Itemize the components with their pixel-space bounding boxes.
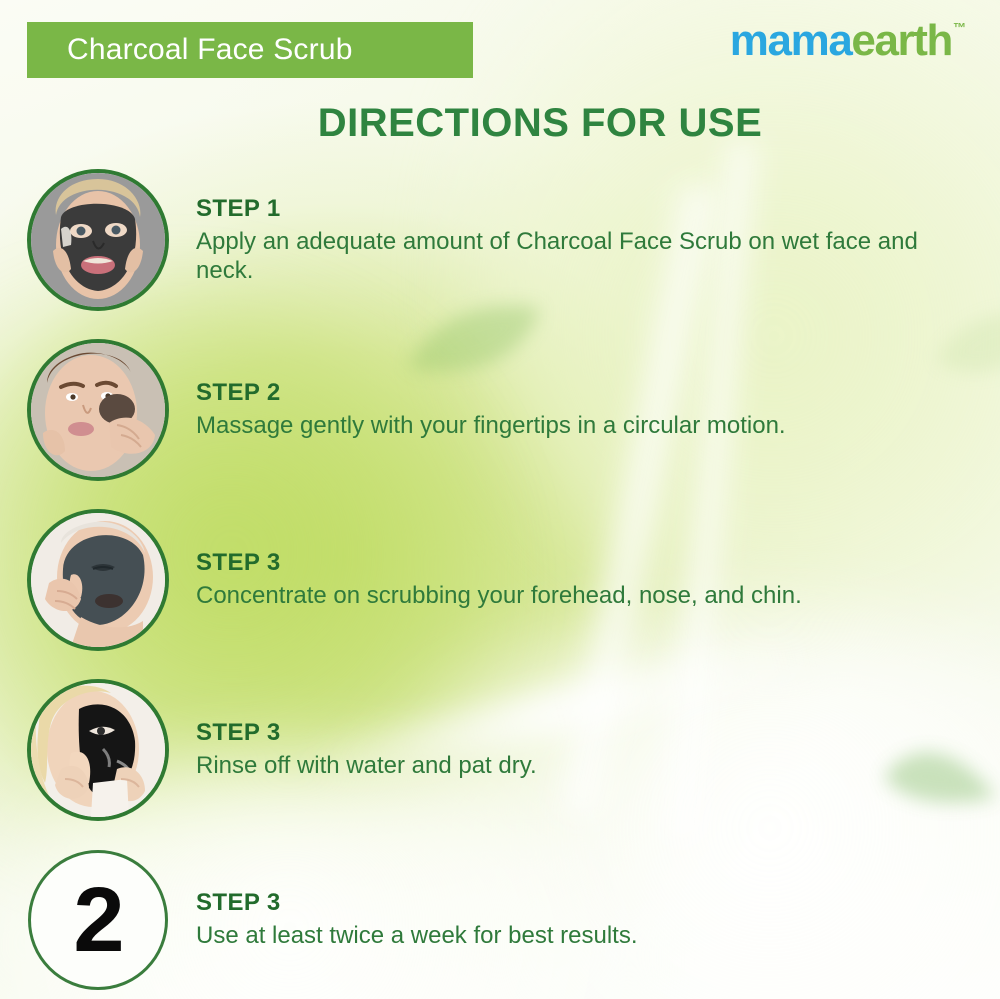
step-number: 2 [73, 874, 122, 966]
step-label: STEP 2 [196, 379, 980, 407]
step-description: Concentrate on scrubbing your forehead, … [196, 581, 936, 610]
step-image-circle [27, 679, 169, 821]
product-title-banner: Charcoal Face Scrub [27, 22, 473, 78]
step-row: STEP 1 Apply an adequate amount of Charc… [0, 155, 1000, 325]
step-number-badge: 2 [28, 850, 168, 990]
directions-for-use-infographic: Charcoal Face Scrub mama earth ™ DIRECTI… [0, 0, 1000, 999]
step-description: Use at least twice a week for best resul… [196, 921, 936, 950]
photo-charcoal-mask-applying [31, 173, 165, 307]
page-title: DIRECTIONS FOR USE [0, 101, 1000, 146]
step-media [0, 509, 196, 651]
steps-list: STEP 1 Apply an adequate amount of Charc… [0, 155, 1000, 999]
logo-text-earth: earth [851, 19, 952, 63]
photo-peeling-mask [31, 683, 165, 817]
step-row: STEP 3 Concentrate on scrubbing your for… [0, 495, 1000, 665]
trademark-symbol: ™ [953, 21, 966, 34]
step-label: STEP 3 [196, 719, 980, 747]
step-row: STEP 3 Rinse off with water and pat dry. [0, 665, 1000, 835]
photo-massaging-cheek [31, 343, 165, 477]
step-media [0, 169, 196, 311]
step-media [0, 339, 196, 481]
logo-text-mama: mama [730, 19, 852, 63]
step-image-circle [27, 509, 169, 651]
step-text: STEP 3 Use at least twice a week for bes… [196, 889, 1000, 950]
step-description: Rinse off with water and pat dry. [196, 751, 936, 780]
step-label: STEP 1 [196, 195, 980, 223]
step-text: STEP 2 Massage gently with your fingerti… [196, 379, 1000, 440]
step-media: 2 [0, 850, 196, 990]
product-title: Charcoal Face Scrub [67, 33, 353, 67]
photo-scrubbing-nose [31, 513, 165, 647]
step-image-circle [27, 169, 169, 311]
step-row: 2 STEP 3 Use at least twice a week for b… [0, 835, 1000, 999]
step-text: STEP 3 Concentrate on scrubbing your for… [196, 549, 1000, 610]
step-label: STEP 3 [196, 889, 980, 917]
mamaearth-logo: mama earth ™ [730, 19, 966, 63]
step-description: Massage gently with your fingertips in a… [196, 411, 936, 440]
step-media [0, 679, 196, 821]
step-description: Apply an adequate amount of Charcoal Fac… [196, 227, 936, 286]
step-text: STEP 3 Rinse off with water and pat dry. [196, 719, 1000, 780]
step-text: STEP 1 Apply an adequate amount of Charc… [196, 195, 1000, 286]
step-image-circle [27, 339, 169, 481]
step-row: STEP 2 Massage gently with your fingerti… [0, 325, 1000, 495]
step-label: STEP 3 [196, 549, 980, 577]
